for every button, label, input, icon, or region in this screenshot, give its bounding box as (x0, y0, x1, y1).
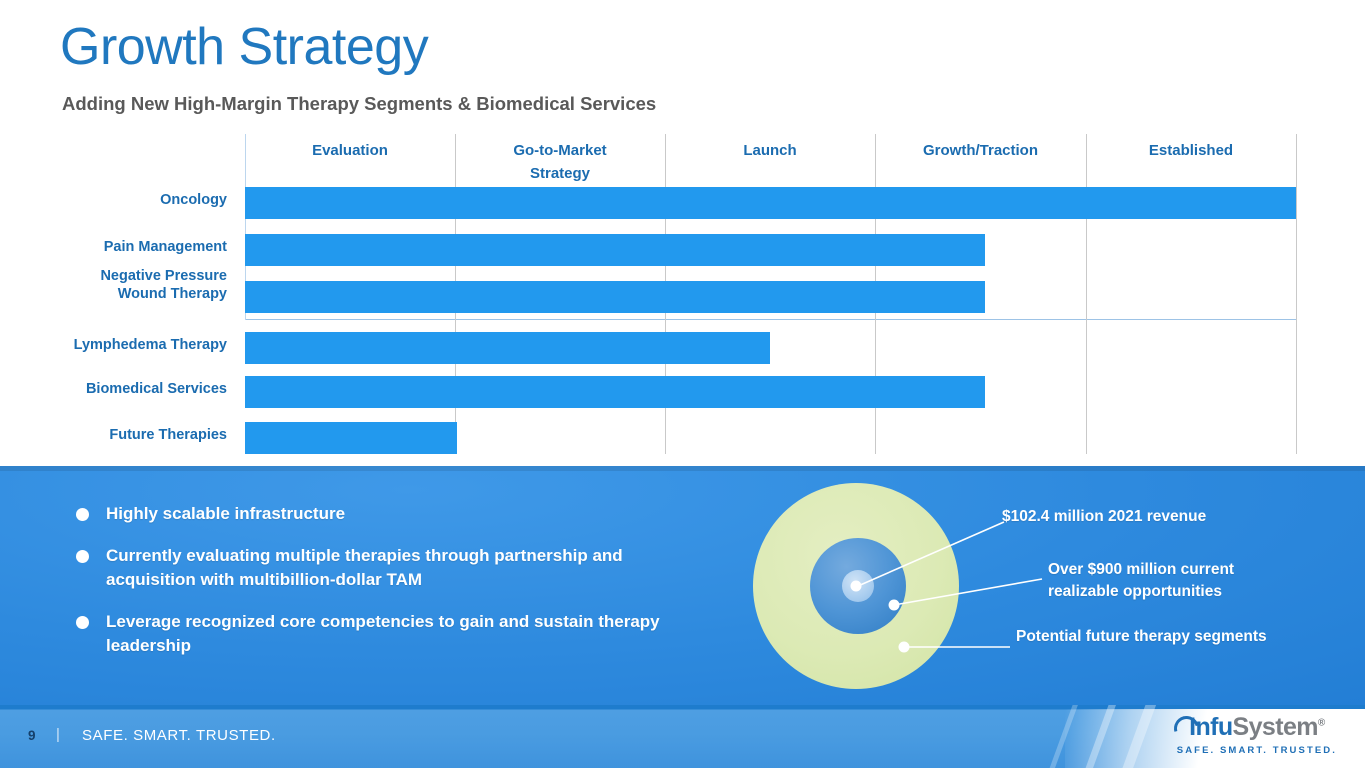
bullet-item: Highly scalable infrastructure (72, 502, 692, 525)
row-label-future-therapies: Future Therapies (0, 427, 227, 445)
bullet-item: Leverage recognized core competencies to… (72, 610, 692, 657)
bullet-item: Currently evaluating multiple therapies … (72, 544, 692, 591)
row-label-negative-pressure-wound-therapy: Negative PressureWound Therapy (0, 268, 227, 303)
page-subtitle: Adding New High-Margin Therapy Segments … (62, 93, 656, 115)
column-header-growth-traction: Growth/Traction (875, 140, 1086, 163)
bullet-dot-icon (76, 616, 89, 629)
slide: Growth Strategy Adding New High-Margin T… (0, 0, 1365, 768)
note-revenue: $102.4 million 2021 revenue (1002, 506, 1206, 528)
logo-word-part2: System (1233, 713, 1318, 741)
opportunity-circles-diagram (742, 475, 982, 697)
therapy-stage-chart: Evaluation Go-to-MarketStrategy Launch G… (0, 134, 1365, 459)
page-number: 9 (28, 728, 36, 743)
bullet-dot-icon (76, 550, 89, 563)
bullet-list: Highly scalable infrastructure Currently… (72, 502, 692, 676)
bar-oncology (245, 187, 1296, 219)
note-opportunities: Over $900 million currentrealizable oppo… (1048, 559, 1234, 603)
logo-registered-mark: ® (1318, 718, 1325, 729)
footer: 9 | SAFE. SMART. TRUSTED. InfuSystem® SA… (0, 705, 1365, 768)
bullet-text: Leverage recognized core competencies to… (106, 612, 660, 654)
row-label-biomedical-services: Biomedical Services (0, 381, 227, 399)
column-header-go-to-market-strategy: Go-to-MarketStrategy (465, 140, 655, 185)
column-header-launch: Launch (665, 140, 875, 163)
header-rule (245, 319, 1296, 320)
note-future-segments: Potential future therapy segments (1016, 626, 1267, 648)
page-title: Growth Strategy (60, 19, 428, 76)
bar-lymphedema-therapy (245, 332, 770, 364)
column-header-established: Established (1086, 140, 1296, 163)
row-label-pain-management: Pain Management (0, 239, 227, 257)
row-label-oncology: Oncology (0, 192, 227, 210)
infusystem-logo: InfuSystem® SAFE. SMART. TRUSTED. (1177, 715, 1337, 756)
footer-tagline: SAFE. SMART. TRUSTED. (82, 727, 276, 744)
footer-separator: | (56, 726, 60, 743)
column-header-evaluation: Evaluation (245, 140, 455, 163)
bullet-text: Highly scalable infrastructure (106, 504, 345, 523)
bullet-dot-icon (76, 508, 89, 521)
row-label-lymphedema-therapy: Lymphedema Therapy (0, 337, 227, 355)
bar-negative-pressure-wound-therapy (245, 281, 985, 313)
bar-biomedical-services (245, 376, 985, 408)
bullet-text: Currently evaluating multiple therapies … (106, 546, 623, 588)
grid-line-5 (1296, 134, 1297, 454)
bar-future-therapies (245, 422, 457, 454)
grid-line-4 (1086, 134, 1087, 454)
logo-tagline: SAFE. SMART. TRUSTED. (1177, 746, 1337, 756)
logo-wordmark: InfuSystem® (1177, 715, 1337, 740)
bar-pain-management (245, 234, 985, 266)
